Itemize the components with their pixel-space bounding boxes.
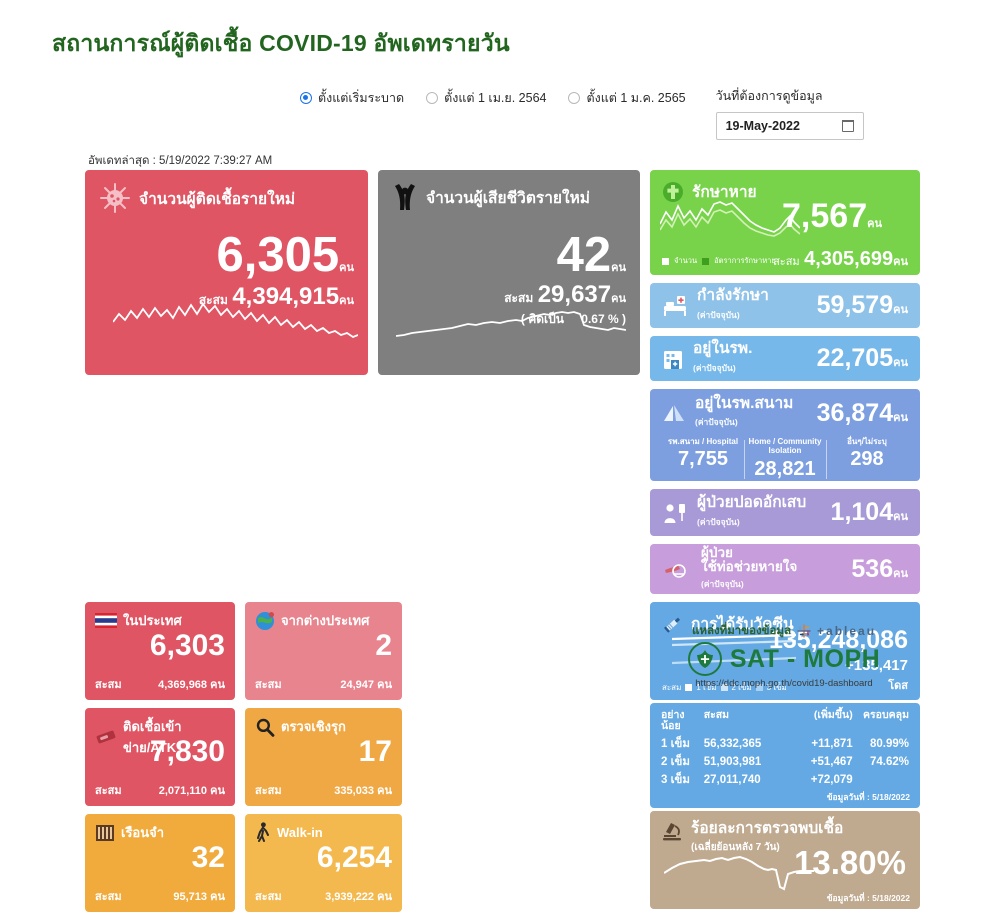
test-kit-icon <box>95 728 117 746</box>
card-in-hospital-subtitle: (ค่าปัจจุบัน) <box>693 363 736 373</box>
card-atk-cumulative: สะสม 2,071,110 คน <box>95 781 225 799</box>
legend-swatch-rate <box>702 258 709 265</box>
card-domestic-cum-value: 4,369,968 <box>158 679 207 691</box>
card-recovered-legend: จำนวน อัตราการรักษาหาย <box>662 255 776 267</box>
radio-option-since-apr-2564[interactable]: ตั้งแต่ 1 เม.ย. 2564 <box>426 86 546 108</box>
radio-indicator-since-apr-2564[interactable] <box>426 92 438 104</box>
table-row: 2 เข็ม 51,903,981 +51,467 74.62% <box>661 756 909 768</box>
card-field-hospital-breakdown: รพ.สนาม / Hospital 7,755 Home / Communit… <box>662 437 908 480</box>
card-prison-cumulative: สะสม 95,713 คน <box>95 887 225 905</box>
card-new-deaths-value: 42 <box>557 228 612 282</box>
radio-label-since-outbreak: ตั้งแต่เริ่มระบาด <box>318 88 404 108</box>
vax-row2-coverage: 74.62% <box>853 756 909 768</box>
vax-row1-dose: 1 เข็ม <box>661 738 704 750</box>
card-atk-cum-label: สะสม <box>95 781 122 799</box>
vax-row3-total: 27,011,740 <box>704 774 788 786</box>
legend-swatch-count <box>662 258 669 265</box>
breakdown-item-other: อื่นๆ/ไม่ระบุ 298 <box>826 437 908 480</box>
sparkline-new-cases <box>113 300 358 346</box>
card-domestic-title: ในประเทศ <box>123 610 182 631</box>
card-walkin[interactable]: Walk-in 6,254 สะสม 3,939,222 คน <box>245 814 402 912</box>
card-treating[interactable]: กำลังรักษา (ค่าปัจจุบัน) 59,579คน <box>650 283 920 328</box>
radio-label-since-apr-2564: ตั้งแต่ 1 เม.ย. 2564 <box>444 88 546 108</box>
thai-flag-icon <box>95 613 117 628</box>
breakdown-value-other: 298 <box>826 448 908 471</box>
card-treating-subtitle: (ค่าปัจจุบัน) <box>697 310 740 320</box>
calendar-icon[interactable] <box>842 120 854 132</box>
card-treating-title: กำลังรักษา <box>697 288 817 304</box>
card-domestic-cumulative: สะสม 4,369,968 คน <box>95 675 225 693</box>
card-imported-cum-label: สะสม <box>255 675 282 693</box>
card-in-hospital-titleblock: อยู่ในรพ. (ค่าปัจจุบัน) <box>693 341 817 375</box>
card-prison-title: เรือนจำ <box>121 822 164 843</box>
breakdown-label-other: อื่นๆ/ไม่ระบุ <box>826 437 908 446</box>
card-active-screening-cum-unit: คน <box>377 785 392 797</box>
prison-icon <box>95 824 115 842</box>
date-filter-label: วันที่ต้องการดูข้อมูล <box>716 86 864 106</box>
card-ventilator[interactable]: ผู้ป่วย ใช้ท่อช่วยหายใจ (ค่าปัจจุบัน) 53… <box>650 544 920 594</box>
card-domestic-cum-unit: คน <box>210 679 225 691</box>
card-imported-cumulative: สะสม 24,947 คน <box>255 675 392 693</box>
card-pneumonia-value-row: 1,104คน <box>831 498 908 527</box>
card-new-cases-value-row: 6,305คน <box>99 232 354 279</box>
page-title: สถานการณ์ผู้ติดเชื้อ COVID-19 อัพเดทรายว… <box>52 26 510 62</box>
vax-row1-total: 56,332,365 <box>704 738 788 750</box>
globe-icon <box>255 611 275 631</box>
vaccination-as-of: ข้อมูลวันที่ : 5/18/2022 <box>827 790 910 804</box>
card-new-deaths[interactable]: จำนวนผู้เสียชีวิตรายใหม่ 42คน สะสม 29,63… <box>378 170 640 375</box>
card-pneumonia-subtitle: (ค่าปัจจุบัน) <box>697 517 740 527</box>
card-ventilator-titleblock: ผู้ป่วย ใช้ท่อช่วยหายใจ (ค่าปัจจุบัน) <box>701 546 851 592</box>
filter-controls: ตั้งแต่เริ่มระบาด ตั้งแต่ 1 เม.ย. 2564 ต… <box>300 86 864 140</box>
vax-row1-coverage: 80.99% <box>853 738 909 750</box>
card-imported[interactable]: จากต่างประเทศ 2 สะสม 24,947 คน <box>245 602 402 700</box>
card-imported-title: จากต่างประเทศ <box>281 610 369 631</box>
card-active-screening-cum-value: 335,033 <box>334 785 374 797</box>
card-treating-titleblock: กำลังรักษา (ค่าปัจจุบัน) <box>697 288 817 322</box>
card-recovered-cumulative: สะสม 4,305,699คน <box>773 248 908 271</box>
card-new-cases-unit: คน <box>339 262 354 274</box>
source-url: https://ddc.moph.go.th/covid19-dashboard <box>648 678 920 689</box>
card-new-cases-title: จำนวนผู้ติดเชื้อรายใหม่ <box>139 186 295 211</box>
dashboard-grid: จำนวนผู้ติดเชื้อรายใหม่ 6,305คน สะสม 4,3… <box>85 170 920 912</box>
card-active-screening-cumulative: สะสม 335,033 คน <box>255 781 392 799</box>
vax-row3-increase: +72,079 <box>787 774 852 786</box>
card-new-deaths-title: จำนวนผู้เสียชีวิตรายใหม่ <box>426 185 590 210</box>
card-field-hospital-value: 36,874 <box>817 399 893 427</box>
breakdown-label-hospital: รพ.สนาม / Hospital <box>662 437 744 446</box>
card-ventilator-value-row: 536คน <box>851 555 908 584</box>
date-input-value: 19-May-2022 <box>726 119 800 133</box>
source-logo-row: SAT - MOPH <box>648 642 920 676</box>
card-recovered-unit: คน <box>867 218 882 230</box>
patient-iv-icon <box>662 501 688 525</box>
table-row: 1 เข็ม 56,332,365 +11,871 80.99% <box>661 738 909 750</box>
breakdown-value-hospital: 7,755 <box>662 448 744 471</box>
sparkline-new-deaths <box>396 303 626 343</box>
vax-row1-increase: +11,871 <box>787 738 852 750</box>
card-atk-cum-value: 2,071,110 <box>159 785 207 797</box>
microscope-icon <box>662 820 684 842</box>
card-pneumonia[interactable]: ผู้ป่วยปอดอักเสบ (ค่าปัจจุบัน) 1,104คน <box>650 489 920 536</box>
last-update-text: อัพเดทล่าสุด : 5/19/2022 7:39:27 AM <box>88 152 272 170</box>
radio-option-since-outbreak[interactable]: ตั้งแต่เริ่มระบาด <box>300 86 404 108</box>
table-row: 3 เข็ม 27,011,740 +72,079 <box>661 774 909 786</box>
source-footer: แหล่งที่มาของข้อมูล +ableau SAT - MO <box>648 622 920 689</box>
vax-header-coverage: ครอบคลุม <box>853 710 909 732</box>
card-treating-value: 59,579 <box>817 291 893 319</box>
card-imported-cum-value: 24,947 <box>340 679 374 691</box>
card-pneumonia-unit: คน <box>893 511 908 523</box>
breakdown-value-home-isolation: 28,821 <box>744 458 826 481</box>
vax-header-dose: อย่างน้อย <box>661 710 704 732</box>
moph-emblem-icon <box>688 642 722 676</box>
card-new-cases-value: 6,305 <box>216 228 339 282</box>
card-new-cases[interactable]: จำนวนผู้ติดเชื้อรายใหม่ 6,305คน สะสม 4,3… <box>85 170 368 375</box>
card-active-screening-cum-label: สะสม <box>255 781 282 799</box>
card-in-hospital[interactable]: อยู่ในรพ. (ค่าปัจจุบัน) 22,705คน <box>650 336 920 381</box>
card-field-hospital[interactable]: อยู่ในรพ.สนาม (ค่าปัจจุบัน) 36,874คน รพ.… <box>650 389 920 481</box>
vaccination-table-header: อย่างน้อย สะสม (เพิ่มขึ้น) ครอบคลุม <box>661 710 909 732</box>
tableau-wordmark: +ableau <box>817 624 876 638</box>
card-ventilator-value: 536 <box>851 555 893 583</box>
card-pneumonia-title: ผู้ป่วยปอดอักเสบ <box>697 495 831 511</box>
card-field-hospital-title: อยู่ในรพ.สนาม <box>695 396 817 412</box>
card-atk[interactable]: ติดเชื้อเข้าข่าย/ATK 7,830 สะสม 2,071,11… <box>85 708 235 806</box>
date-filter: วันที่ต้องการดูข้อมูล 19-May-2022 <box>716 86 864 140</box>
black-ribbon-icon <box>392 182 418 212</box>
card-new-deaths-unit: คน <box>611 262 626 274</box>
card-pneumonia-value: 1,104 <box>831 498 894 526</box>
card-recovered-cum-unit: คน <box>893 256 908 268</box>
magnifier-icon <box>255 717 275 737</box>
card-atk-cum-unit: คน <box>210 785 225 797</box>
card-atk-value: 7,830 <box>150 738 225 767</box>
card-ventilator-subtitle: (ค่าปัจจุบัน) <box>701 579 744 589</box>
card-active-screening[interactable]: ตรวจเชิงรุก 17 สะสม 335,033 คน <box>245 708 402 806</box>
card-field-hospital-subtitle: (ค่าปัจจุบัน) <box>695 417 738 427</box>
card-in-hospital-unit: คน <box>893 357 908 369</box>
card-pneumonia-titleblock: ผู้ป่วยปอดอักเสบ (ค่าปัจจุบัน) <box>697 495 831 529</box>
card-positivity-value: 13.80% <box>794 847 906 878</box>
card-recovered-cum-value: 4,305,699 <box>804 248 893 270</box>
sparkline-recovered <box>660 198 800 246</box>
card-imported-value: 2 <box>375 632 392 661</box>
breakdown-item-hospital: รพ.สนาม / Hospital 7,755 <box>662 437 744 480</box>
hospital-building-icon <box>662 348 684 370</box>
card-walkin-cum-label: สะสม <box>255 887 282 905</box>
vax-row2-increase: +51,467 <box>787 756 852 768</box>
card-prison[interactable]: เรือนจำ 32 สะสม 95,713 คน <box>85 814 235 912</box>
vax-row2-dose: 2 เข็ม <box>661 756 704 768</box>
vax-row2-total: 51,903,981 <box>704 756 788 768</box>
radio-label-since-jan-2565: ตั้งแต่ 1 ม.ค. 2565 <box>586 88 685 108</box>
card-field-hospital-value-row: 36,874คน <box>817 399 908 428</box>
card-in-hospital-title: อยู่ในรพ. <box>693 341 817 357</box>
card-domestic-cum-label: สะสม <box>95 675 122 693</box>
vax-header-total: สะสม <box>704 710 788 732</box>
virus-icon <box>99 182 131 214</box>
vax-row3-coverage <box>853 774 909 786</box>
sparkline-positivity <box>664 853 814 895</box>
card-prison-cum-unit: คน <box>210 891 225 903</box>
radio-indicator-since-outbreak[interactable] <box>300 92 312 104</box>
tableau-logo-icon <box>797 624 811 638</box>
card-prison-value: 32 <box>192 844 225 873</box>
positivity-as-of: ข้อมูลวันที่ : 5/18/2022 <box>827 891 910 905</box>
vax-row3-dose: 3 เข็ม <box>661 774 704 786</box>
radio-indicator-since-jan-2565[interactable] <box>568 92 580 104</box>
vax-header-increase: (เพิ่มขึ้น) <box>787 710 852 732</box>
walking-person-icon <box>255 822 271 842</box>
card-positivity-title: ร้อยละการตรวจพบเชื้อ <box>691 820 843 837</box>
radio-option-since-jan-2565[interactable]: ตั้งแต่ 1 ม.ค. 2565 <box>568 86 685 108</box>
card-vaccination-table: อย่างน้อย สะสม (เพิ่มขึ้น) ครอบคลุม 1 เข… <box>650 703 920 808</box>
legend-label-rate: อัตราการรักษาหาย <box>714 255 776 267</box>
legend-label-count: จำนวน <box>674 255 697 267</box>
card-ventilator-unit: คน <box>893 568 908 580</box>
card-new-deaths-value-row: 42คน <box>392 232 626 279</box>
card-prison-cum-value: 95,713 <box>173 891 207 903</box>
card-ventilator-title-line1: ผู้ป่วย <box>701 546 851 560</box>
source-line: แหล่งที่มาของข้อมูล +ableau <box>648 622 920 640</box>
card-walkin-cum-unit: คน <box>377 891 392 903</box>
card-active-screening-title: ตรวจเชิงรุก <box>281 716 346 737</box>
card-recovered[interactable]: รักษาหาย 7,567คน จำนวน อัตราการรักษาหาย … <box>650 170 920 275</box>
date-input[interactable]: 19-May-2022 <box>716 112 864 140</box>
card-treating-value-row: 59,579คน <box>817 291 908 320</box>
card-prison-cum-label: สะสม <box>95 887 122 905</box>
card-in-hospital-value: 22,705 <box>817 344 893 372</box>
card-field-hospital-titleblock: อยู่ในรพ.สนาม (ค่าปัจจุบัน) <box>695 396 817 430</box>
hospital-bed-icon <box>662 295 688 317</box>
card-domestic-value: 6,303 <box>150 632 225 661</box>
breakdown-item-home-isolation: Home / Community Isolation 28,821 <box>744 437 826 480</box>
card-positivity-rate[interactable]: ร้อยละการตรวจพบเชื้อ (เฉลี่ยย้อนหลัง 7 ว… <box>650 811 920 909</box>
tent-icon <box>662 403 686 423</box>
card-treating-unit: คน <box>893 304 908 316</box>
card-recovered-value-row: 7,567คน <box>782 200 882 232</box>
card-field-hospital-unit: คน <box>893 412 908 424</box>
card-recovered-cum-label: สะสม <box>773 256 800 268</box>
card-walkin-cum-value: 3,939,222 <box>325 891 374 903</box>
ventilator-icon <box>662 557 692 581</box>
card-walkin-title: Walk-in <box>277 825 323 840</box>
card-imported-cum-unit: คน <box>377 679 392 691</box>
card-positivity-subtitle: (เฉลี่ยย้อนหลัง 7 วัน) <box>691 842 780 853</box>
card-active-screening-value: 17 <box>359 738 392 767</box>
card-in-hospital-value-row: 22,705คน <box>817 344 908 373</box>
card-domestic[interactable]: ในประเทศ 6,303 สะสม 4,369,968 คน <box>85 602 235 700</box>
source-name: SAT - MOPH <box>730 645 880 674</box>
card-recovered-value: 7,567 <box>782 197 867 235</box>
source-label: แหล่งที่มาของข้อมูล <box>692 622 791 640</box>
card-walkin-value: 6,254 <box>317 844 392 873</box>
card-walkin-cumulative: สะสม 3,939,222 คน <box>255 887 392 905</box>
breakdown-label-home-isolation: Home / Community Isolation <box>744 437 826 455</box>
card-ventilator-title-line2: ใช้ท่อช่วยหายใจ <box>701 560 851 574</box>
